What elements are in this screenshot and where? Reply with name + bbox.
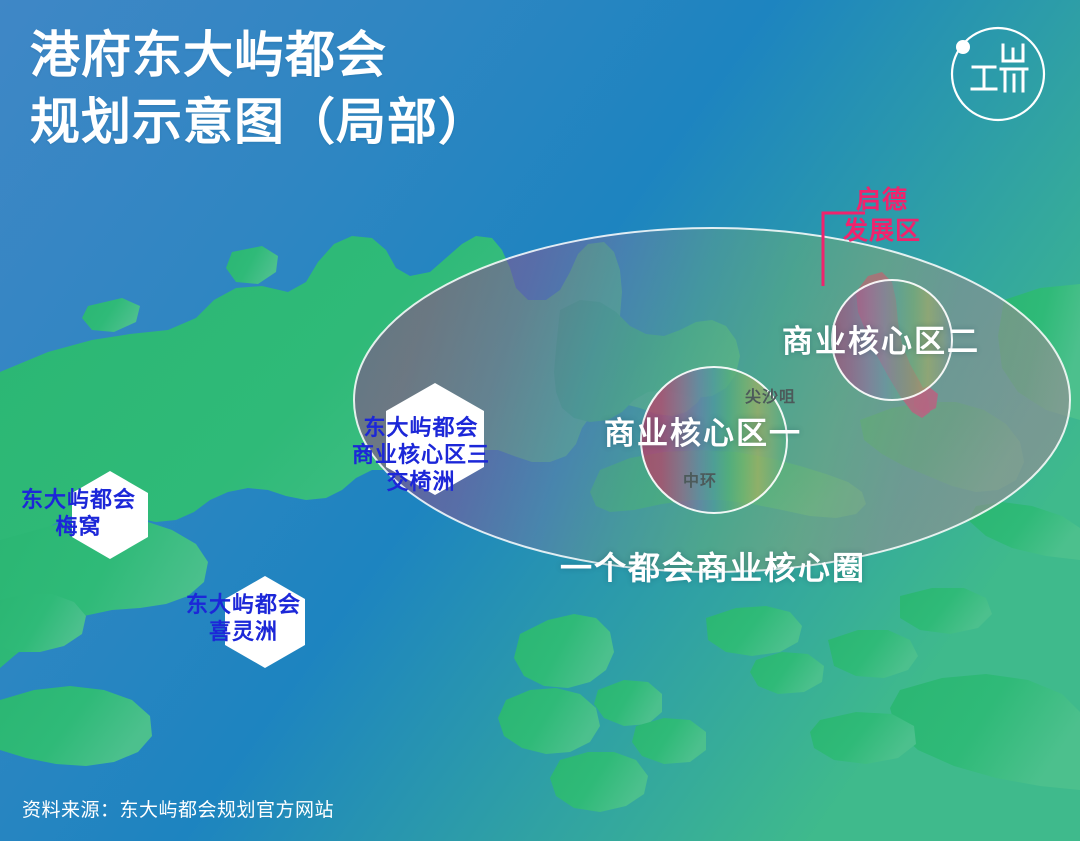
label-kau-yi-chau: 东大屿都会 商业核心区三 交椅洲	[352, 415, 490, 495]
label-kai-tak-development: 启德 发展区	[843, 185, 921, 246]
initium-circle-logo[interactable]	[943, 19, 1053, 129]
page-title: 港府东大屿都会 规划示意图（局部）	[30, 22, 489, 156]
label-central: 中环	[683, 467, 717, 491]
label-cbd-one: 商业核心区一	[604, 415, 802, 452]
label-mui-wo: 东大屿都会 梅窝	[21, 487, 136, 541]
label-tsim-sha-tsui: 尖沙咀	[745, 383, 796, 407]
infographic-canvas: 港府东大屿都会 规划示意图（局部） 商业核心区一 商业核心区二 一个都会商业核心…	[0, 0, 1080, 841]
logo-dot	[956, 40, 970, 54]
label-metro-business-core-ring: 一个都会商业核心圈	[560, 549, 866, 587]
source-note: 资料来源：东大屿都会规划官方网站	[22, 795, 334, 822]
label-hei-ling-chau: 东大屿都会 喜灵洲	[186, 592, 301, 646]
label-cbd-two: 商业核心区二	[782, 323, 980, 360]
